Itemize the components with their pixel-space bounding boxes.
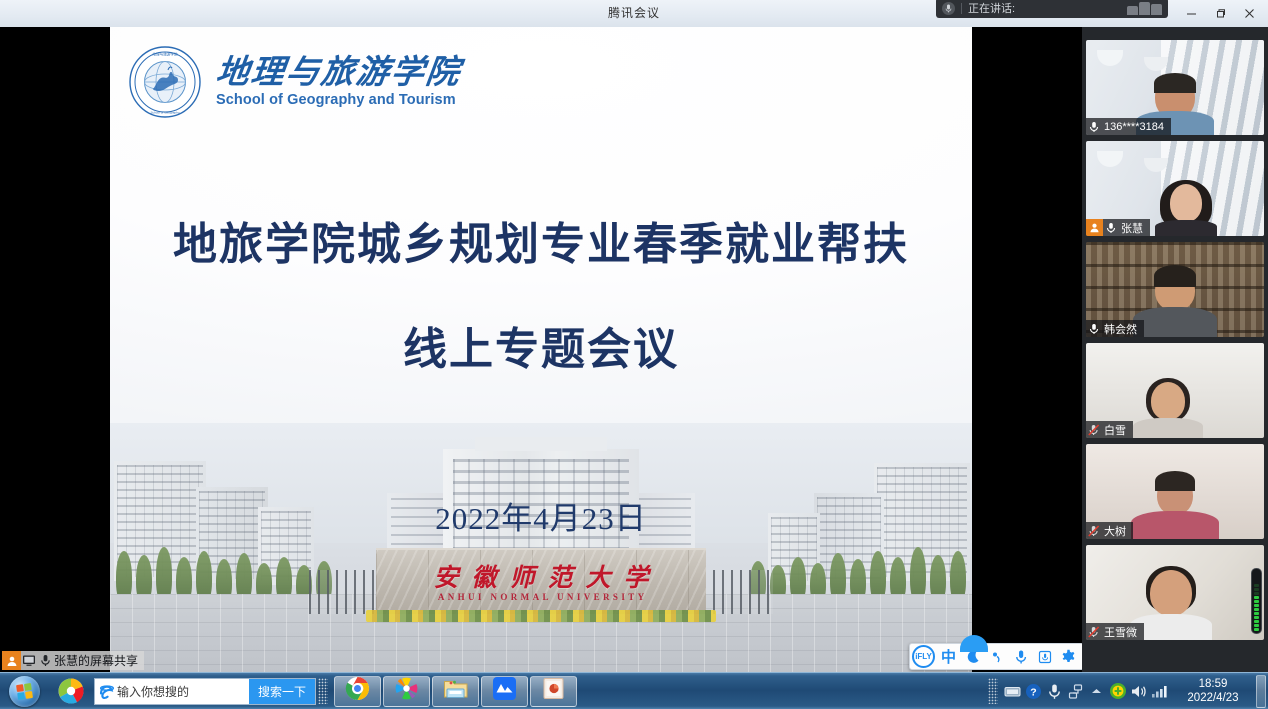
slide-date: 2022年4月23日 — [110, 493, 972, 538]
search-submit-button[interactable]: 搜索一下 — [249, 679, 315, 704]
signal-icon[interactable] — [1149, 676, 1170, 706]
participant-rail[interactable]: 136****3184 张慧 — [1082, 27, 1268, 672]
active-speaker-overlay: 正在讲话: — [936, 0, 1168, 18]
campus-photo: 安徽师范大学 ANHUI NORMAL UNIVERSITY — [110, 423, 972, 672]
audio-level-meter — [1251, 568, 1262, 634]
taskbar-item-tencent-meeting[interactable] — [481, 676, 528, 707]
participant-name-chip: 白雪 — [1086, 421, 1133, 438]
taskbar-item-360-browser[interactable] — [383, 676, 430, 707]
ime-soft-keyboard-icon[interactable] — [1034, 645, 1055, 668]
taskbar-apps[interactable] — [334, 676, 577, 707]
toolbar-grip[interactable] — [318, 678, 328, 704]
svg-text:?: ? — [1030, 686, 1036, 698]
participant-name: 张慧 — [1121, 220, 1143, 236]
participant-name-chip: 韩会然 — [1086, 320, 1144, 337]
host-badge-icon — [1086, 219, 1103, 236]
active-speaker-label: 正在讲话: — [968, 0, 1015, 16]
browser-ball-icon[interactable] — [54, 674, 88, 708]
participant-name-chip: 大树 — [1086, 522, 1133, 539]
participant-name: 白雪 — [1104, 422, 1126, 438]
svg-text:School of Geography: School of Geography — [150, 111, 180, 115]
person-icon — [2, 651, 21, 670]
taskbar-item-chrome[interactable] — [334, 676, 381, 707]
slide-title-line1: 地旅学院城乡规划专业春季就业帮扶 — [110, 223, 972, 267]
school-logo: 地理与旅游学院 School of Geography 地理与旅游学院 Scho… — [128, 45, 461, 119]
folder-icon — [443, 677, 469, 705]
monument-text-en: ANHUI NORMAL UNIVERSITY — [376, 592, 706, 602]
presentation-slide: 地理与旅游学院 School of Geography 地理与旅游学院 Scho… — [0, 27, 1082, 672]
participant-tile[interactable]: 白雪 — [1086, 343, 1264, 438]
keyboard-icon[interactable] — [1002, 676, 1023, 706]
participant-tile[interactable]: 大树 — [1086, 444, 1264, 539]
flower-bed — [366, 610, 716, 622]
participant-tile[interactable]: 136****3184 — [1086, 40, 1264, 135]
participant-tile[interactable]: 张慧 — [1086, 141, 1264, 236]
participant-name-chip: 136****3184 — [1086, 118, 1171, 135]
windows-taskbar[interactable]: 输入你想搜的 搜索一下 — [0, 672, 1268, 709]
ime-floating-toolbar[interactable]: iFLY 中 — [909, 643, 1082, 670]
microphone-icon — [1086, 118, 1102, 135]
participant-name-chip: 张慧 — [1086, 219, 1150, 236]
internet-explorer-icon — [95, 683, 117, 700]
screen-share-indicator: 张慧的屏幕共享 — [2, 651, 144, 670]
help-icon[interactable]: ? — [1023, 676, 1044, 706]
avatar — [1132, 378, 1204, 438]
search-box[interactable]: 输入你想搜的 搜索一下 — [94, 678, 316, 705]
pinwheel-icon — [394, 676, 419, 706]
gate-right — [695, 570, 773, 614]
tencent-meeting-icon — [492, 676, 517, 706]
taskbar-item-file-explorer[interactable] — [432, 676, 479, 707]
start-button[interactable] — [0, 674, 48, 709]
maximize-restore-button[interactable] — [1206, 2, 1235, 24]
ime-settings-gear-icon[interactable] — [1058, 645, 1079, 668]
avatar — [1130, 473, 1220, 539]
participant-name: 大树 — [1104, 523, 1126, 539]
volume-icon[interactable] — [1128, 676, 1149, 706]
search-input[interactable]: 输入你想搜的 — [117, 683, 249, 700]
microphone-muted-icon — [1086, 421, 1102, 438]
divider — [961, 3, 962, 14]
microphone-muted-icon — [1086, 522, 1102, 539]
windows-start-orb-icon — [9, 676, 40, 707]
show-desktop-button[interactable] — [1256, 675, 1266, 708]
ime-language-button[interactable]: 中 — [938, 645, 959, 668]
participant-name: 韩会然 — [1104, 321, 1137, 337]
participant-tile[interactable]: 韩会然 — [1086, 242, 1264, 337]
school-name-cn: 地理与旅游学院 — [214, 56, 463, 91]
close-button[interactable] — [1235, 2, 1264, 24]
university-monument: 安徽师范大学 ANHUI NORMAL UNIVERSITY — [376, 548, 706, 614]
clock-time: 18:59 — [1174, 677, 1252, 691]
360-security-icon[interactable] — [1107, 676, 1128, 706]
taskbar-item-powerpoint[interactable] — [530, 676, 577, 707]
quick-launch[interactable] — [54, 674, 88, 708]
ifly-logo-icon[interactable]: iFLY — [912, 645, 935, 668]
share-owner-label: 张慧的屏幕共享 — [54, 652, 138, 669]
avatar — [1132, 269, 1218, 337]
participant-name: 王雪微 — [1104, 624, 1137, 640]
ime-punctuation-icon[interactable] — [986, 645, 1007, 668]
ime-voice-input-icon[interactable] — [1010, 645, 1031, 668]
microphone-icon — [942, 2, 955, 15]
slide-title: 地旅学院城乡规划专业春季就业帮扶 线上专题会议 — [110, 223, 972, 377]
window-controls — [1177, 2, 1264, 24]
tencent-meeting-window: 腾讯会议 正在讲话: — [0, 0, 1268, 709]
microphone-icon — [1103, 219, 1119, 236]
participant-name-chip: 王雪微 — [1086, 623, 1144, 640]
minimize-button[interactable] — [1177, 2, 1206, 24]
svg-text:地理与旅游学院: 地理与旅游学院 — [152, 52, 178, 57]
school-emblem-icon: 地理与旅游学院 School of Geography — [128, 45, 202, 119]
avatar — [1151, 180, 1221, 236]
network-icon[interactable] — [1065, 676, 1086, 706]
clock[interactable]: 18:59 2022/4/23 — [1174, 677, 1252, 705]
slide-title-line2: 线上专题会议 — [110, 313, 972, 377]
participant-tile[interactable]: 王雪微 — [1086, 545, 1264, 640]
chrome-icon — [345, 676, 370, 706]
tray-grip[interactable] — [988, 678, 998, 704]
school-name-en: School of Geography and Tourism — [216, 92, 461, 108]
powerpoint-icon — [541, 677, 566, 705]
slide-content: 地理与旅游学院 School of Geography 地理与旅游学院 Scho… — [110, 27, 972, 672]
window-titlebar: 腾讯会议 正在讲话: — [0, 0, 1268, 27]
screen-share-icon — [21, 651, 37, 670]
microphone-muted-icon — [1086, 623, 1102, 640]
shared-screen-stage[interactable]: 地理与旅游学院 School of Geography 地理与旅游学院 Scho… — [0, 27, 1082, 672]
microphone-icon — [1086, 320, 1102, 337]
waveform-icon — [1127, 2, 1162, 15]
show-hidden-icons-button[interactable] — [1086, 676, 1107, 706]
participant-name: 136****3184 — [1104, 121, 1164, 133]
microphone-icon — [37, 651, 53, 670]
system-tray[interactable]: ? — [988, 673, 1268, 709]
monument-text-cn: 安徽师范大学 — [376, 558, 706, 594]
clock-date: 2022/4/23 — [1174, 691, 1252, 705]
microphone-icon[interactable] — [1044, 676, 1065, 706]
